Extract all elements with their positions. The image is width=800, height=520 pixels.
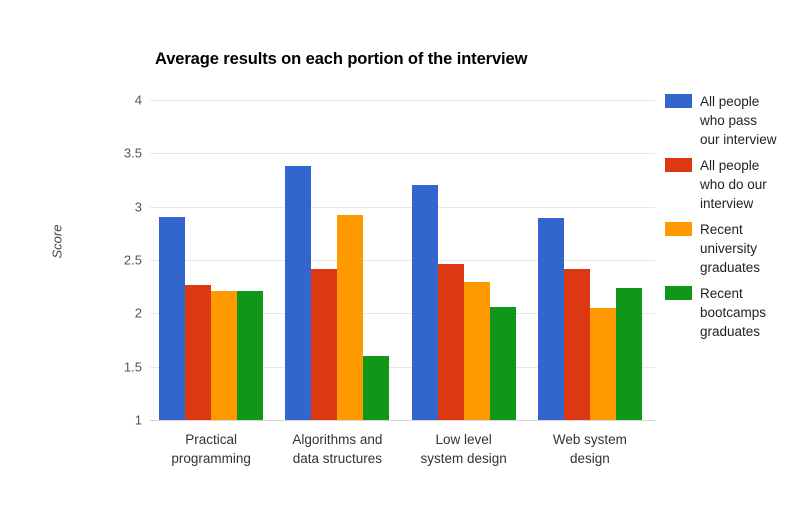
legend-label-line: bootcamps — [700, 303, 766, 322]
x-tick-label-line: design — [515, 449, 665, 468]
plot-area — [150, 100, 655, 420]
bar[interactable] — [564, 269, 590, 420]
legend-label-line: university — [700, 239, 760, 258]
legend-label-line: All people — [700, 156, 767, 175]
bar[interactable] — [538, 218, 564, 420]
x-tick-label-line: Web system — [515, 430, 665, 449]
legend-label: Recentuniversitygraduates — [700, 220, 760, 277]
bar-group — [538, 100, 642, 420]
bar[interactable] — [211, 291, 237, 420]
y-axis-title: Score — [50, 212, 65, 272]
legend-color-swatch — [665, 94, 692, 108]
bar-group — [285, 100, 389, 420]
legend-label-line: our interview — [700, 130, 777, 149]
chart-title: Average results on each portion of the i… — [155, 50, 527, 69]
bar[interactable] — [490, 307, 516, 420]
legend-label-line: who do our — [700, 175, 767, 194]
bar-group — [412, 100, 516, 420]
y-tick-label: 2.5 — [102, 253, 142, 268]
x-tick-label: Web systemdesign — [515, 430, 665, 468]
legend-label-line: graduates — [700, 258, 760, 277]
bar[interactable] — [412, 185, 438, 420]
bar[interactable] — [438, 264, 464, 420]
bar[interactable] — [363, 356, 389, 420]
legend-label-line: interview — [700, 194, 767, 213]
gridline — [150, 420, 655, 421]
legend-item[interactable]: Recentuniversitygraduates — [665, 220, 800, 277]
y-tick-label: 3.5 — [102, 146, 142, 161]
legend-item[interactable]: Recentbootcampsgraduates — [665, 284, 800, 341]
y-tick-label: 1 — [102, 413, 142, 428]
legend-color-swatch — [665, 286, 692, 300]
bar[interactable] — [616, 288, 642, 420]
bar-group — [159, 100, 263, 420]
legend-label-line: Recent — [700, 220, 760, 239]
legend-label: Recentbootcampsgraduates — [700, 284, 766, 341]
y-axis-tick-labels: 43.532.521.51 — [100, 100, 142, 420]
legend-color-swatch — [665, 222, 692, 236]
bar[interactable] — [285, 166, 311, 420]
legend-label-line: All people — [700, 92, 777, 111]
bar[interactable] — [237, 291, 263, 420]
legend-label-line: graduates — [700, 322, 766, 341]
bar[interactable] — [185, 285, 211, 420]
y-tick-label: 4 — [102, 93, 142, 108]
y-tick-label: 3 — [102, 199, 142, 214]
legend-label-line: who pass — [700, 111, 777, 130]
y-tick-label: 1.5 — [102, 359, 142, 374]
bar[interactable] — [159, 217, 185, 420]
bar[interactable] — [590, 308, 616, 420]
y-tick-label: 2 — [102, 306, 142, 321]
legend-item[interactable]: All peoplewho do ourinterview — [665, 156, 800, 213]
legend-item[interactable]: All peoplewho passour interview — [665, 92, 800, 149]
bar[interactable] — [311, 269, 337, 420]
bar[interactable] — [337, 215, 363, 420]
bar-chart: Average results on each portion of the i… — [0, 0, 800, 520]
legend-color-swatch — [665, 158, 692, 172]
legend-label-line: Recent — [700, 284, 766, 303]
bar[interactable] — [464, 282, 490, 420]
legend-label: All peoplewho do ourinterview — [700, 156, 767, 213]
legend-label: All peoplewho passour interview — [700, 92, 777, 149]
legend: All peoplewho passour interviewAll peopl… — [665, 92, 800, 348]
